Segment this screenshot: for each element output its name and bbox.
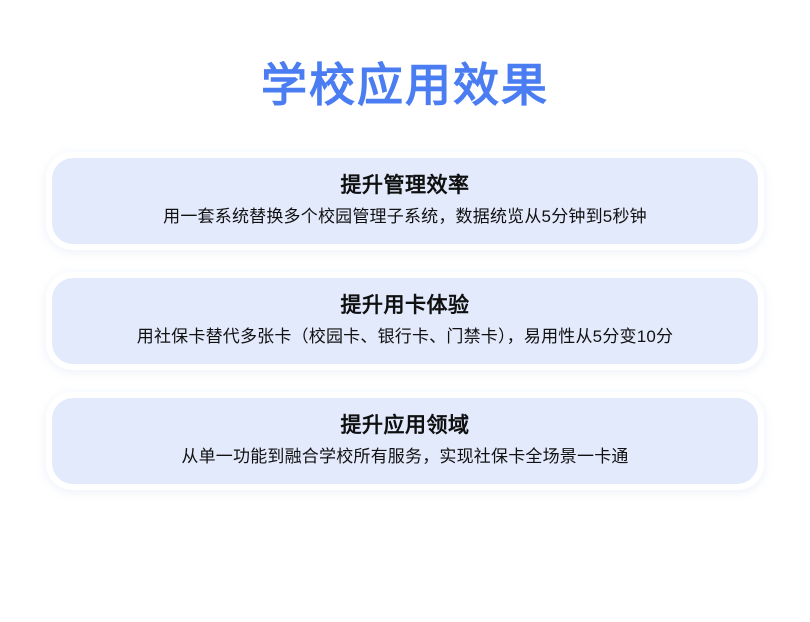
benefit-card-title: 提升管理效率 — [341, 172, 470, 200]
benefit-card-description: 用一套系统替换多个校园管理子系统，数据统览从5分钟到5秒钟 — [163, 204, 647, 230]
benefit-card: 提升用卡体验 用社保卡替代多张卡（校园卡、银行卡、门禁卡），易用性从5分变10分 — [46, 272, 764, 370]
benefit-card-description: 从单一功能到融合学校所有服务，实现社保卡全场景一卡通 — [181, 444, 628, 470]
benefit-card-body: 提升管理效率 用一套系统替换多个校园管理子系统，数据统览从5分钟到5秒钟 — [52, 158, 758, 244]
benefit-card-title: 提升应用领域 — [341, 412, 470, 440]
benefit-card-body: 提升应用领域 从单一功能到融合学校所有服务，实现社保卡全场景一卡通 — [52, 398, 758, 484]
benefit-card-body: 提升用卡体验 用社保卡替代多张卡（校园卡、银行卡、门禁卡），易用性从5分变10分 — [52, 278, 758, 364]
benefit-card: 提升应用领域 从单一功能到融合学校所有服务，实现社保卡全场景一卡通 — [46, 392, 764, 490]
page-title: 学校应用效果 — [0, 56, 810, 114]
benefit-card: 提升管理效率 用一套系统替换多个校园管理子系统，数据统览从5分钟到5秒钟 — [46, 152, 764, 250]
benefit-card-list: 提升管理效率 用一套系统替换多个校园管理子系统，数据统览从5分钟到5秒钟 提升用… — [46, 152, 764, 490]
slide-root: 学校应用效果 提升管理效率 用一套系统替换多个校园管理子系统，数据统览从5分钟到… — [0, 0, 810, 622]
benefit-card-description: 用社保卡替代多张卡（校园卡、银行卡、门禁卡），易用性从5分变10分 — [137, 324, 673, 350]
benefit-card-title: 提升用卡体验 — [341, 292, 470, 320]
